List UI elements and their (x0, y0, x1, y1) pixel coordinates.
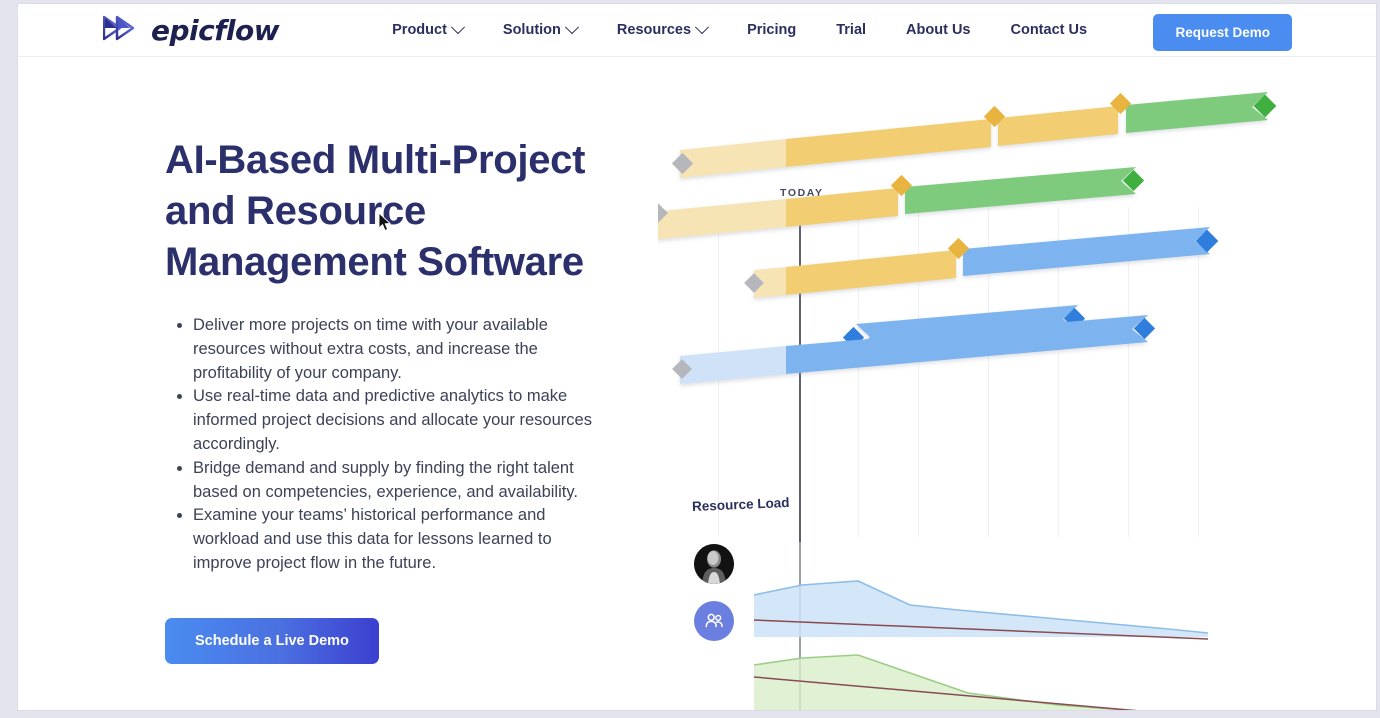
chevron-down-icon (695, 20, 709, 34)
hero-illustration: Active Projects TODAY (658, 57, 1358, 710)
screenshot-root: epicflow Product Solution Resources Pric… (0, 0, 1380, 718)
gantt-row[interactable] (754, 227, 1210, 298)
nav-label: Contact Us (1010, 22, 1087, 38)
nav-label: Solution (503, 22, 561, 38)
nav-item-solution[interactable]: Solution (483, 14, 597, 46)
list-item: Examine your teams’ historical performan… (193, 504, 605, 575)
nav-item-about-us[interactable]: About Us (886, 14, 990, 46)
nav-item-contact-us[interactable]: Contact Us (990, 14, 1107, 46)
resource-load-bottom-chart (754, 655, 1208, 710)
nav-label: Resources (617, 22, 691, 38)
resource-load-charts (658, 517, 1358, 710)
nav-item-product[interactable]: Product (372, 14, 483, 46)
double-chevron-icon (103, 15, 143, 46)
gantt-row[interactable] (658, 167, 1136, 240)
hero-copy: AI-Based Multi-Project and Resource Mana… (165, 135, 605, 664)
hero-section: AI-Based Multi-Project and Resource Mana… (18, 57, 1376, 710)
chevron-down-icon (565, 20, 579, 34)
list-item: Bridge demand and supply by finding the … (193, 457, 605, 505)
gantt-row[interactable] (680, 92, 1268, 178)
resource-load-top-chart (754, 581, 1208, 639)
request-demo-button[interactable]: Request Demo (1153, 14, 1292, 51)
nav-label: About Us (906, 22, 970, 38)
nav-label: Product (392, 22, 447, 38)
list-item: Deliver more projects on time with your … (193, 314, 605, 385)
site-header: epicflow Product Solution Resources Pric… (18, 4, 1376, 57)
list-item: Use real-time data and predictive analyt… (193, 385, 605, 456)
nav-item-resources[interactable]: Resources (597, 14, 727, 46)
logo-text: epicflow (151, 14, 279, 47)
chevron-down-icon (451, 20, 465, 34)
site-logo[interactable]: epicflow (103, 14, 279, 47)
nav-label: Trial (836, 22, 866, 38)
page-title: AI-Based Multi-Project and Resource Mana… (165, 135, 605, 288)
main-navigation: Product Solution Resources Pricing Trial (372, 14, 1107, 46)
browser-page: epicflow Product Solution Resources Pric… (18, 4, 1376, 710)
hero-benefits-list: Deliver more projects on time with your … (165, 314, 605, 576)
nav-item-trial[interactable]: Trial (816, 14, 886, 46)
nav-label: Pricing (747, 22, 796, 38)
nav-item-pricing[interactable]: Pricing (727, 14, 816, 46)
schedule-live-demo-button[interactable]: Schedule a Live Demo (165, 618, 379, 664)
